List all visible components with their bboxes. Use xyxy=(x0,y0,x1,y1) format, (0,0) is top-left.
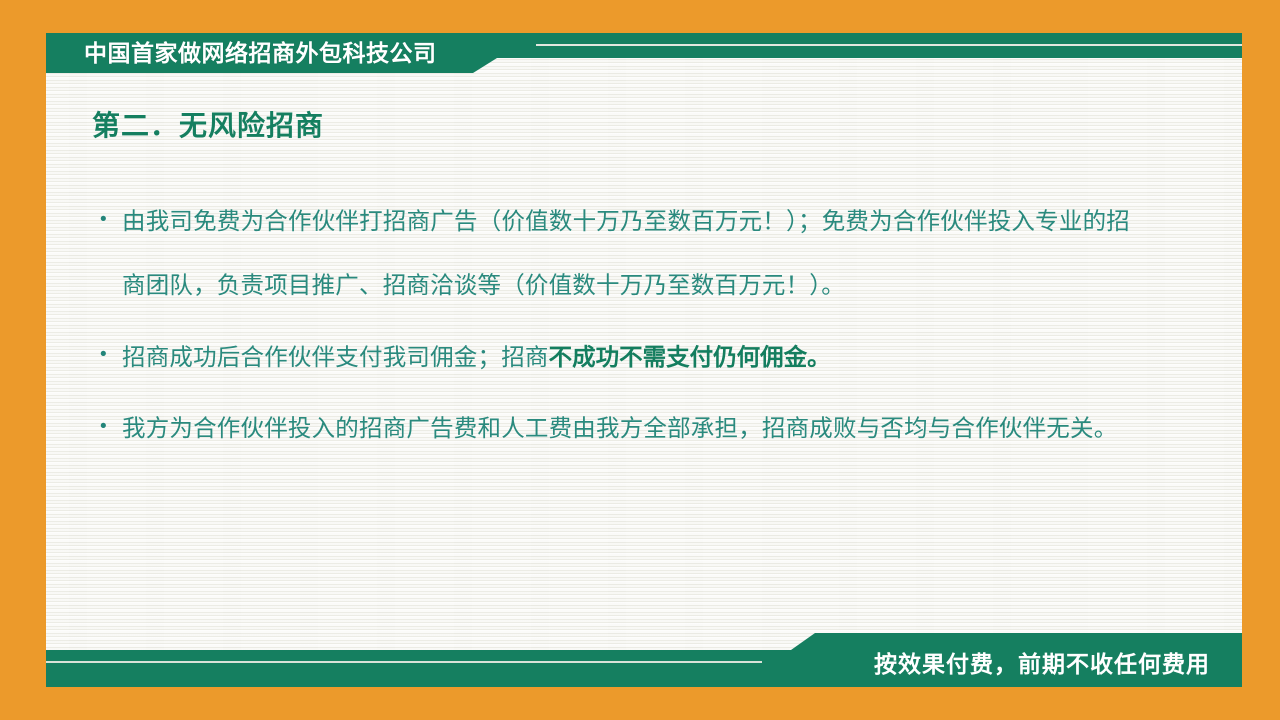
bullet-text-highlight: 不成功不需支付仍何佣金。 xyxy=(549,344,831,370)
bullet-text: 由我司免费为合作伙伴打招商广告（价值数十万乃至数百万元！）；免费为合作伙伴投入专… xyxy=(122,190,1130,318)
footer-ribbon: 按效果付费，前期不收任何费用 xyxy=(46,633,1242,687)
slide-canvas: 中国首家做网络招商外包科技公司 第二．无风险招商 •由我司免费为合作伙伴打招商广… xyxy=(0,0,1280,720)
header-ribbon-rule xyxy=(536,44,1242,46)
bullet-text-segment: 招商成功后合作伙伴支付我司佣金；招商 xyxy=(122,345,549,371)
bullet-dot-icon: • xyxy=(100,325,122,364)
bullet-text: 招商成功后合作伙伴支付我司佣金；招商不成功不需支付仍何佣金。 xyxy=(122,325,1130,390)
bullet-text-segment: 我方为合作伙伴投入的招商广告费和人工费由我方全部承担，招商成败与否均与合作伙伴无… xyxy=(122,416,1117,442)
header-ribbon: 中国首家做网络招商外包科技公司 xyxy=(46,33,1242,73)
bullet-text-segment: 由我司免费为合作伙伴打招商广告（价值数十万乃至数百万元！）；免费为合作伙伴投入专… xyxy=(122,209,1130,299)
header-title: 中国首家做网络招商外包科技公司 xyxy=(84,33,437,73)
footer-slogan: 按效果付费，前期不收任何费用 xyxy=(874,641,1210,687)
footer-ribbon-rule xyxy=(46,661,762,663)
bullet-dot-icon: • xyxy=(100,397,122,436)
bullet-item: •招商成功后合作伙伴支付我司佣金；招商不成功不需支付仍何佣金。 xyxy=(100,325,1130,390)
bullet-list: •由我司免费为合作伙伴打招商广告（价值数十万乃至数百万元！）；免费为合作伙伴投入… xyxy=(100,190,1130,468)
bullet-item: •我方为合作伙伴投入的招商广告费和人工费由我方全部承担，招商成败与否均与合作伙伴… xyxy=(100,397,1130,461)
bullet-item: •由我司免费为合作伙伴打招商广告（价值数十万乃至数百万元！）；免费为合作伙伴投入… xyxy=(100,190,1130,318)
bullet-text: 我方为合作伙伴投入的招商广告费和人工费由我方全部承担，招商成败与否均与合作伙伴无… xyxy=(122,397,1130,461)
slide-title: 第二．无风险招商 xyxy=(92,104,324,144)
bullet-dot-icon: • xyxy=(100,190,122,229)
